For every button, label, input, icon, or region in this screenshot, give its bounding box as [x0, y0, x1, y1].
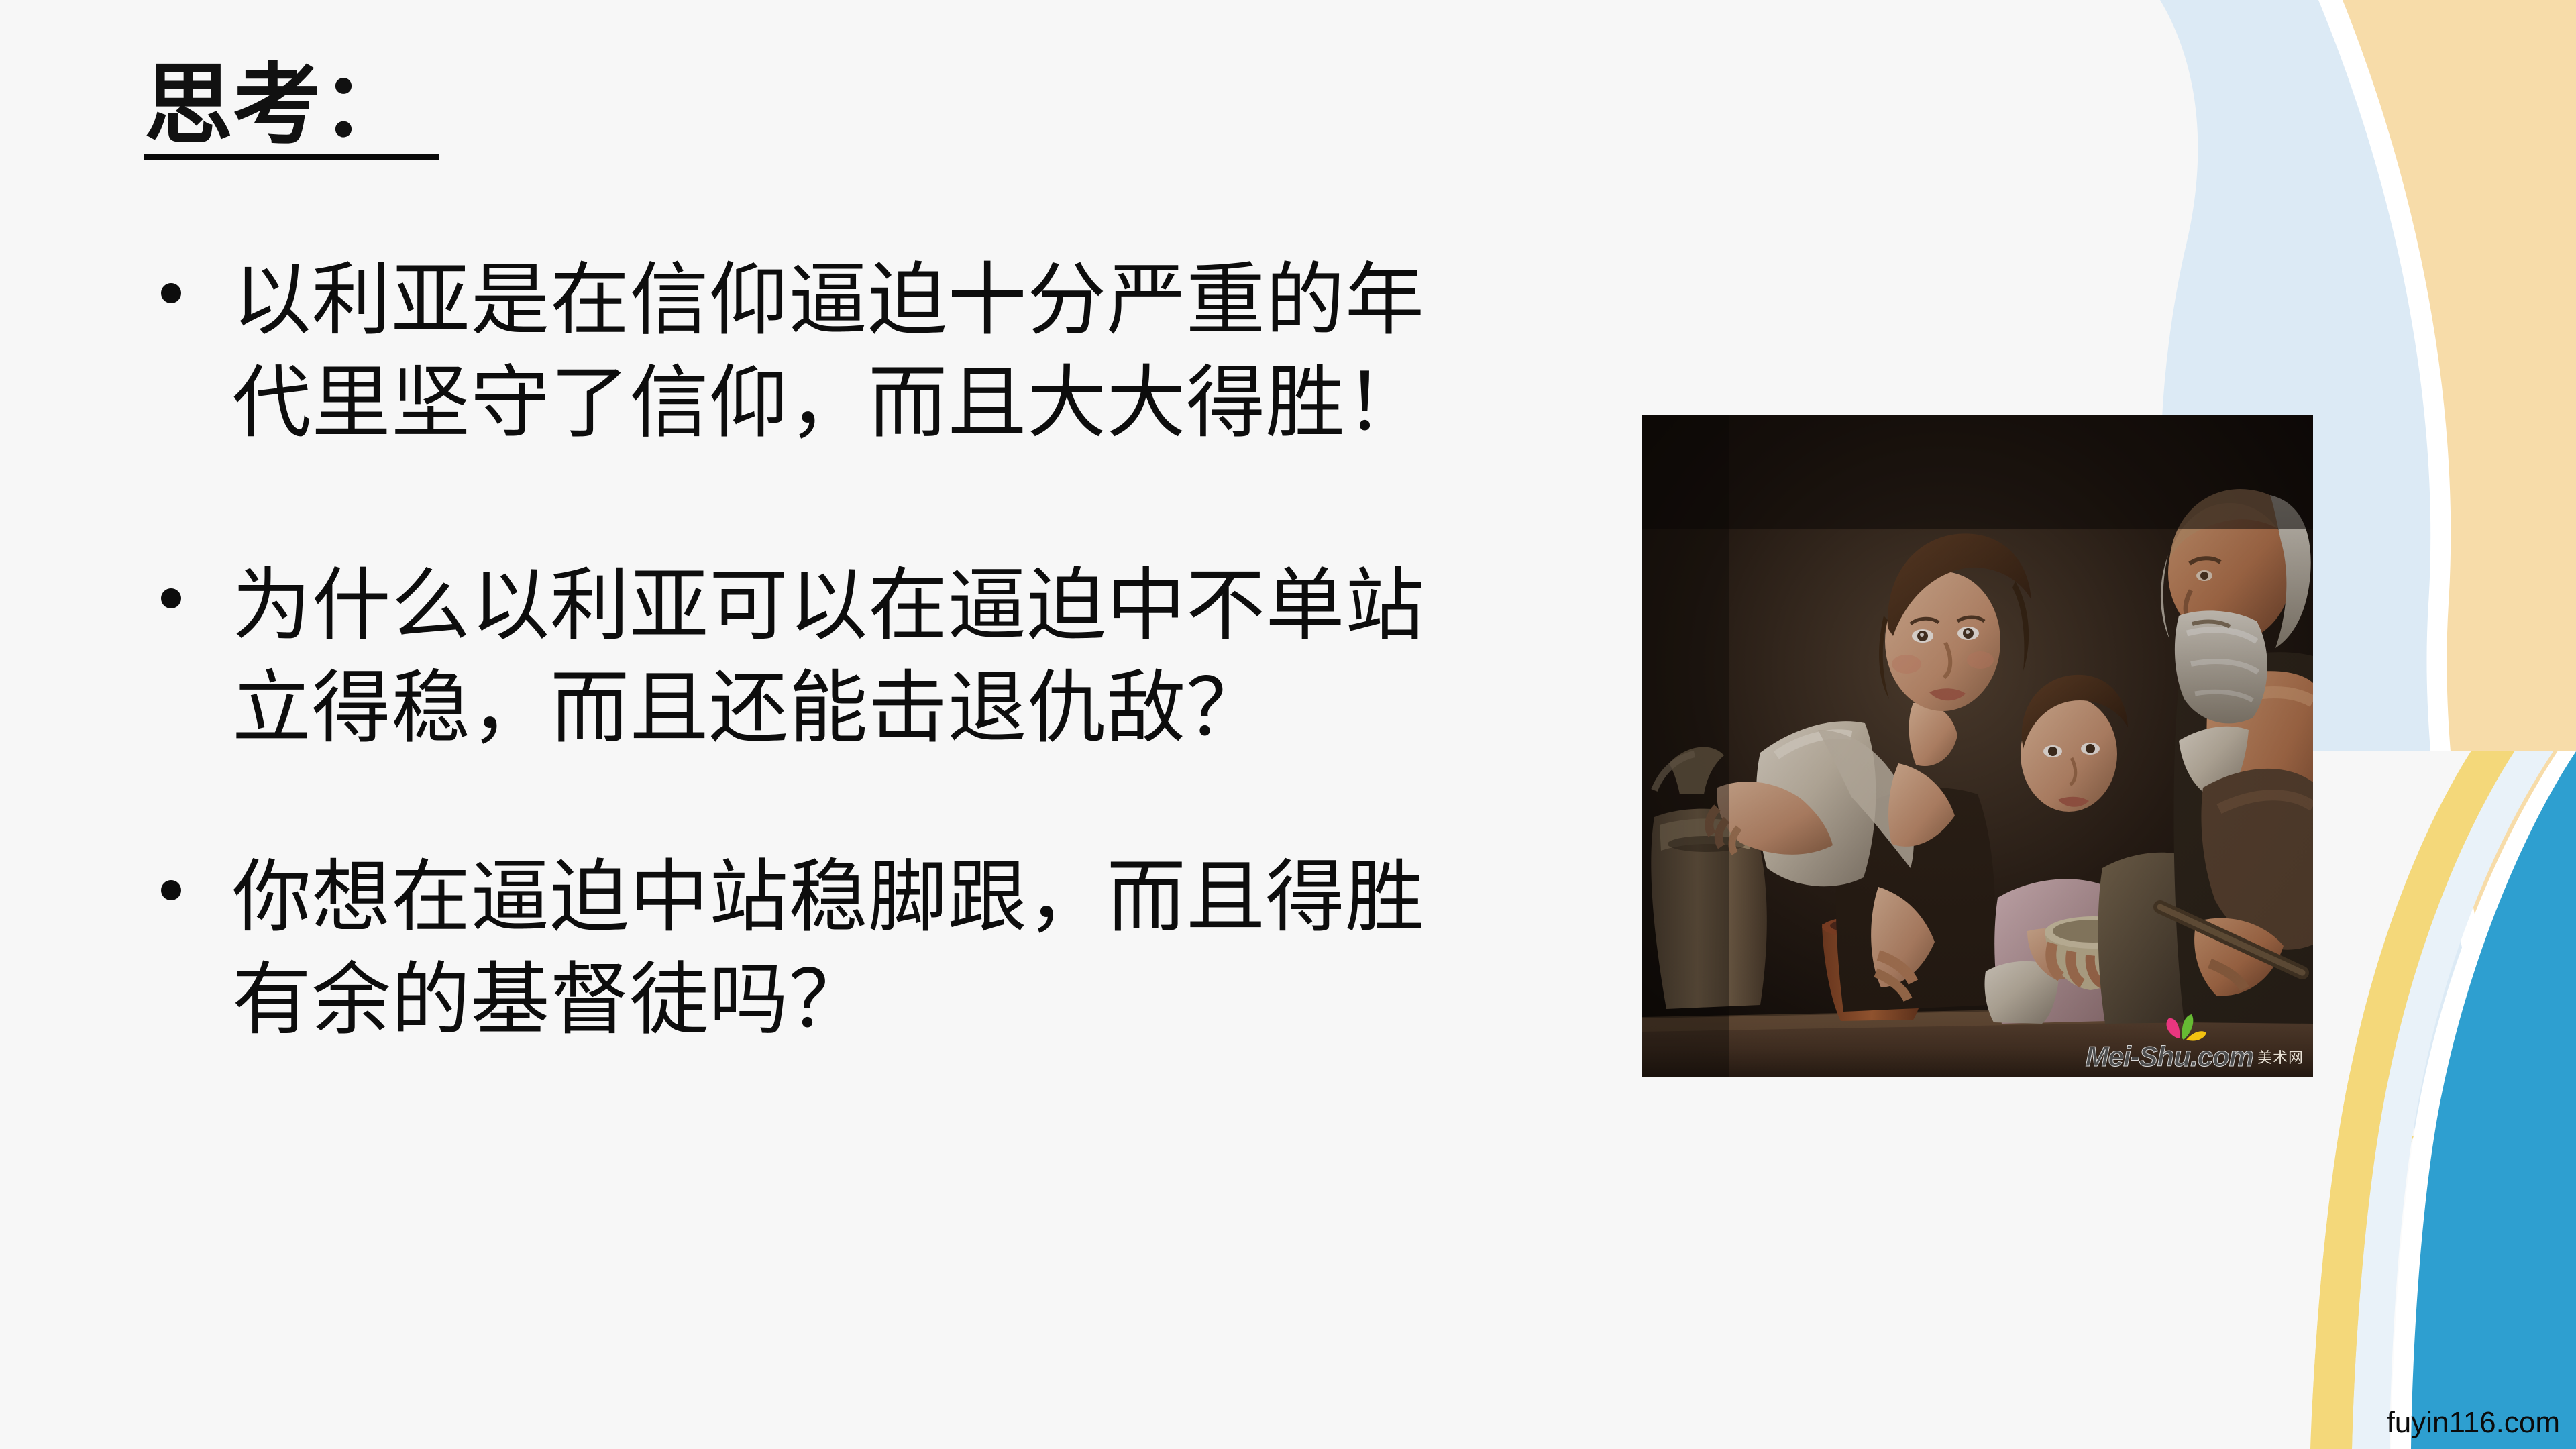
- page-title-block: 思考：: [144, 54, 439, 160]
- list-item: 以利亚是在信仰逼迫十分严重的年代里坚守了信仰，而且大大得胜！: [153, 250, 1468, 455]
- painting-image: Mei-Shu.com 美术网: [1642, 415, 2313, 1077]
- list-spacer: [153, 761, 1468, 847]
- list-item-text: 以利亚是在信仰逼迫十分严重的年代里坚守了信仰，而且大大得胜！: [232, 250, 1468, 455]
- page-title: 思考：: [144, 54, 439, 158]
- list-item-text: 你想在逼迫中站稳脚跟，而且得胜有余的基督徒吗？: [232, 847, 1468, 1053]
- list-spacer: [153, 455, 1468, 555]
- list-item: 你想在逼迫中站稳脚跟，而且得胜有余的基督徒吗？: [153, 847, 1468, 1053]
- bullet-dot-icon: [161, 283, 181, 303]
- bullet-dot-icon: [161, 880, 181, 900]
- painting-canvas: [1642, 415, 2313, 1077]
- list-item: 为什么以利亚可以在逼迫中不单站立得稳，而且还能击退仇敌？: [153, 555, 1468, 761]
- list-item-text: 为什么以利亚可以在逼迫中不单站立得稳，而且还能击退仇敌？: [232, 555, 1468, 761]
- footer-url: fuyin116.com: [2387, 1406, 2560, 1440]
- presentation-slide: 思考： 以利亚是在信仰逼迫十分严重的年代里坚守了信仰，而且大大得胜！ 为什么以利…: [0, 0, 2576, 1449]
- bullet-list: 以利亚是在信仰逼迫十分严重的年代里坚守了信仰，而且大大得胜！ 为什么以利亚可以在…: [153, 250, 1468, 1052]
- bullet-dot-icon: [161, 588, 181, 608]
